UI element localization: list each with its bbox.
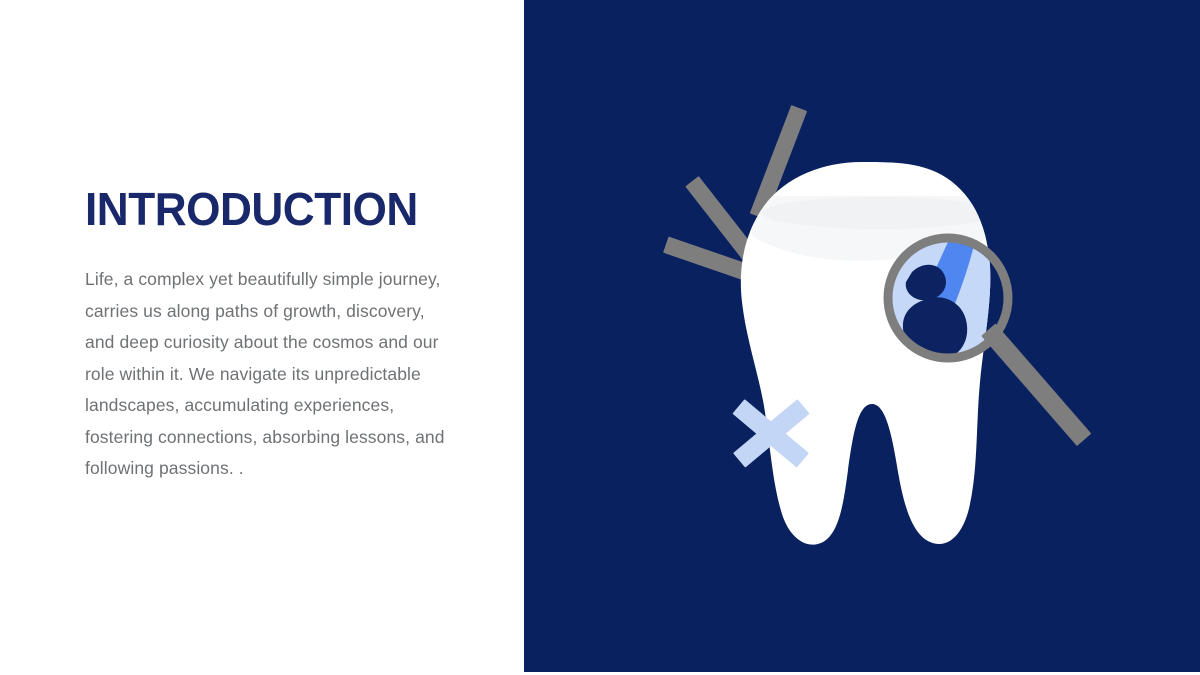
page-title: INTRODUCTION <box>85 184 418 234</box>
illustration-panel <box>524 0 1200 672</box>
body-paragraph: Life, a complex yet beautifully simple j… <box>85 264 457 485</box>
magnifier-handle <box>981 323 1091 446</box>
text-panel: INTRODUCTION Life, a complex yet beautif… <box>0 0 524 675</box>
tooth-illustration <box>524 0 1200 672</box>
slide: INTRODUCTION Life, a complex yet beautif… <box>0 0 1200 675</box>
